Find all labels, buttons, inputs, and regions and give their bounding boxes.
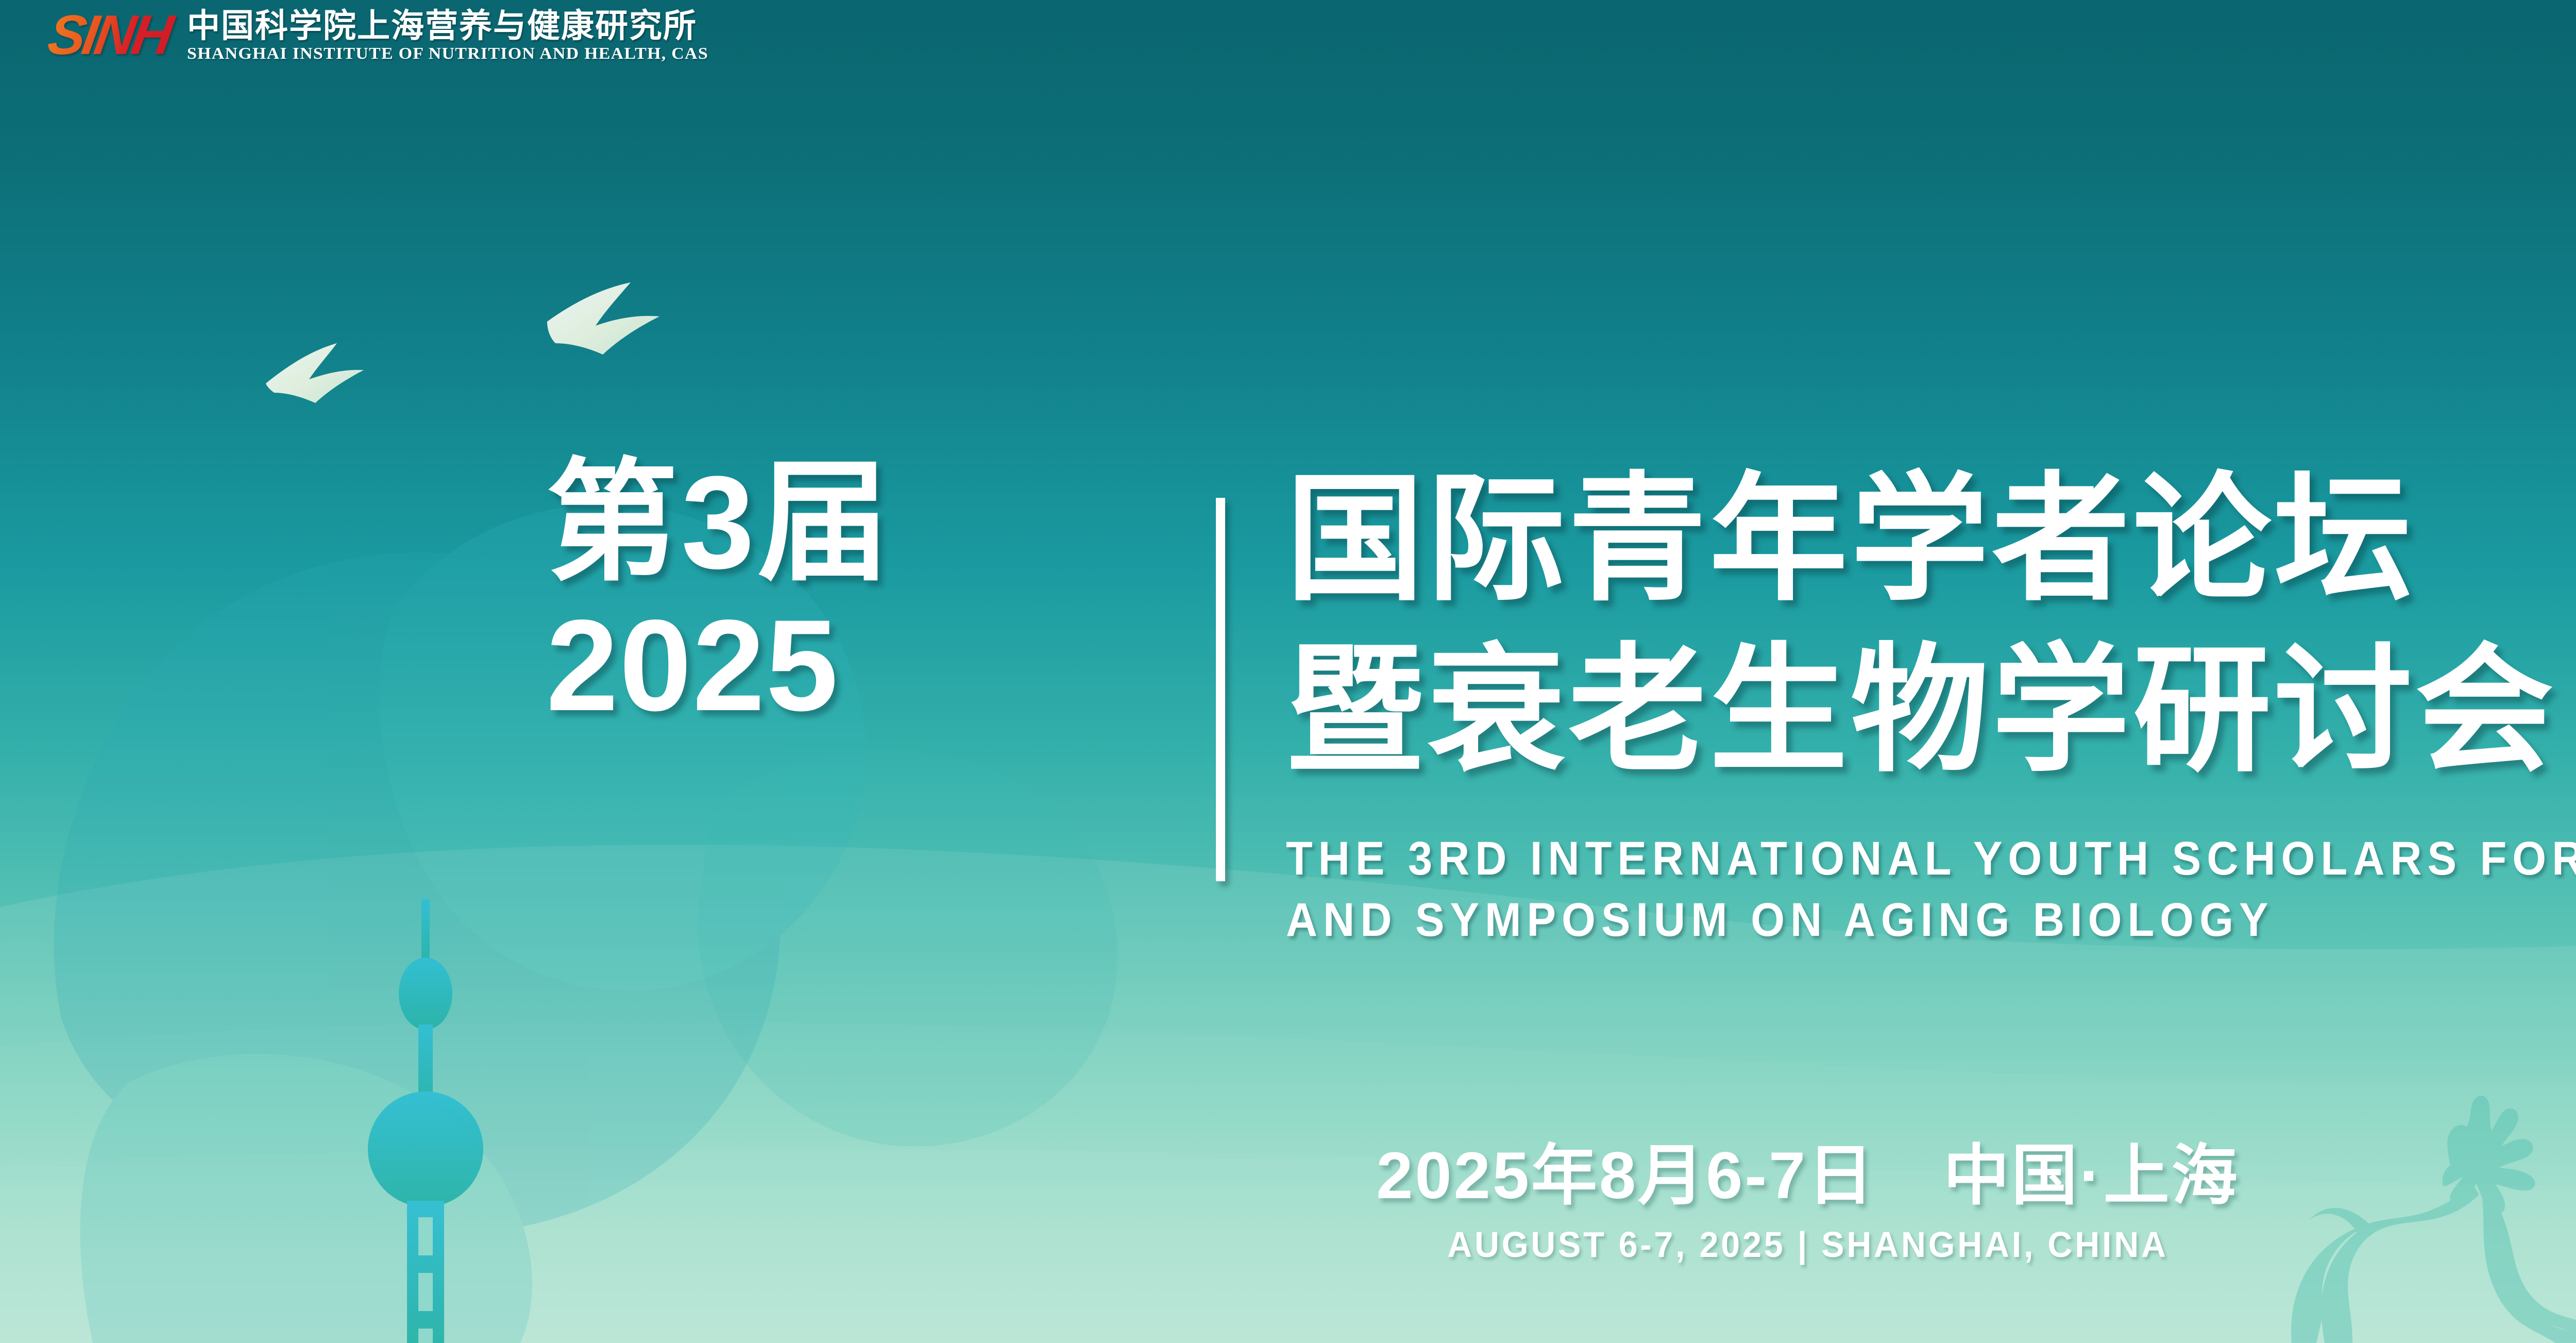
title-divider — [1216, 498, 1225, 881]
sinh-logo-mark: SINH — [44, 7, 186, 63]
institute-logo: SINH 中国科学院上海营养与健康研究所 SHANGHAI INSTITUTE … — [49, 7, 697, 63]
event-date-en: AUGUST 6-7, 2025 | SHANGHAI, CHINA — [90, 1224, 2576, 1265]
title-cn-line-2: 暨衰老生物学研讨会 — [1286, 625, 2576, 796]
title-en-line-1: THE 3RD INTERNATIONAL YOUTH SCHOLARS FOR… — [1286, 828, 2576, 890]
headline-block: 第3届 2025 国际青年学者论坛 暨衰老生物学研讨会 THE 3RD INTE… — [546, 454, 2576, 951]
edition-column: 第3届 2025 — [546, 454, 1185, 732]
conference-banner: SINH 中国科学院上海营养与健康研究所 SHANGHAI INSTITUTE … — [0, 0, 2576, 1343]
title-column: 国际青年学者论坛 暨衰老生物学研讨会 THE 3RD INTERNATIONAL… — [1286, 454, 2576, 951]
institute-name-block: 中国科学院上海营养与健康研究所 SHANGHAI INSTITUTE OF NU… — [187, 9, 697, 63]
edition-number: 第3届 — [546, 454, 1185, 592]
institute-name-cn: 中国科学院上海营养与健康研究所 — [187, 9, 697, 43]
event-datetime-block: 2025年8月6-7日 中国·上海 AUGUST 6-7, 2025 | SHA… — [0, 1140, 2576, 1265]
title-cn-line-1: 国际青年学者论坛 — [1286, 454, 2576, 625]
title-en-line-2: AND SYMPOSIUM ON AGING BIOLOGY — [1286, 889, 2576, 951]
edition-year: 2025 — [546, 599, 1185, 732]
event-date-cn: 2025年8月6-7日 中国·上海 — [0, 1140, 2576, 1213]
institute-name-en: SHANGHAI INSTITUTE OF NUTRITION AND HEAL… — [187, 44, 727, 63]
